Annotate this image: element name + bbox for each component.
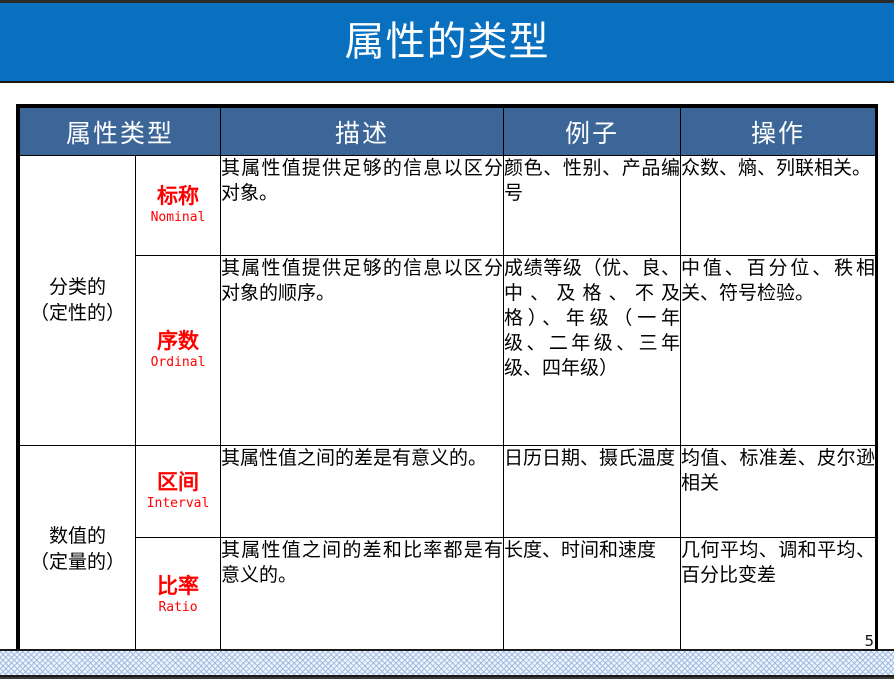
group-label-categorical-line2: （定性的） <box>30 302 125 324</box>
group-cell-numeric: 数值的 （定量的） <box>20 446 136 655</box>
examples-cell-ordinal: 成绩等级（优、良、中、及格、不及格）、年级（一年级、二年级、三年级、四年级） <box>504 256 681 446</box>
type-label-cn-nominal: 标称 <box>136 184 220 208</box>
group-label-categorical-line1: 分类的 <box>49 276 106 298</box>
operations-cell-ordinal: 中值、百分位、秩相关、符号检验。 <box>681 256 876 446</box>
description-cell-interval: 其属性值之间的差是有意义的。 <box>221 446 504 538</box>
operations-cell-nominal: 众数、熵、列联相关。 <box>681 156 876 256</box>
type-cell-ratio: 比率 Ratio <box>136 538 221 655</box>
attribute-types-table: 属性类型 描述 例子 操作 分类的 （定性的） 标称 Nominal 其属性值提… <box>19 107 876 655</box>
group-cell-categorical: 分类的 （定性的） <box>20 156 136 446</box>
column-header-attribute-type: 属性类型 <box>20 108 221 156</box>
slide-number: 5 <box>864 634 874 649</box>
slide-title-banner: 属性的类型 <box>0 3 894 81</box>
type-label-en-ratio: Ratio <box>136 599 220 617</box>
operations-cell-ratio: 几何平均、调和平均、百分比变差 <box>681 538 876 655</box>
type-cell-interval: 区间 Interval <box>136 446 221 538</box>
type-cell-ordinal: 序数 Ordinal <box>136 256 221 446</box>
description-cell-ratio: 其属性值之间的差和比率都是有意义的。 <box>221 538 504 655</box>
table-row: 分类的 （定性的） 标称 Nominal 其属性值提供足够的信息以区分对象。 颜… <box>20 156 876 256</box>
table-row: 数值的 （定量的） 区间 Interval 其属性值之间的差是有意义的。 日历日… <box>20 446 876 538</box>
column-header-operations: 操作 <box>681 108 876 156</box>
attribute-types-table-container: 属性类型 描述 例子 操作 分类的 （定性的） 标称 Nominal 其属性值提… <box>16 104 878 650</box>
footer-hatch-band <box>0 649 894 677</box>
table-header-row: 属性类型 描述 例子 操作 <box>20 108 876 156</box>
operations-cell-interval: 均值、标准差、皮尔逊相关 <box>681 446 876 538</box>
table-row: 序数 Ordinal 其属性值提供足够的信息以区分对象的顺序。 成绩等级（优、良… <box>20 256 876 446</box>
type-label-cn-ordinal: 序数 <box>136 329 220 353</box>
examples-cell-nominal: 颜色、性别、产品编号 <box>504 156 681 256</box>
banner-underline <box>0 81 894 83</box>
examples-cell-ratio: 长度、时间和速度 <box>504 538 681 655</box>
type-label-cn-ratio: 比率 <box>136 574 220 598</box>
type-label-cn-interval: 区间 <box>136 470 220 494</box>
description-cell-nominal: 其属性值提供足够的信息以区分对象。 <box>221 156 504 256</box>
examples-cell-interval: 日历日期、摄氏温度 <box>504 446 681 538</box>
group-label-numeric-line1: 数值的 <box>49 525 106 547</box>
type-cell-nominal: 标称 Nominal <box>136 156 221 256</box>
type-label-en-ordinal: Ordinal <box>136 354 220 372</box>
description-cell-ordinal: 其属性值提供足够的信息以区分对象的顺序。 <box>221 256 504 446</box>
table-row: 比率 Ratio 其属性值之间的差和比率都是有意义的。 长度、时间和速度 几何平… <box>20 538 876 655</box>
column-header-examples: 例子 <box>504 108 681 156</box>
page-title: 属性的类型 <box>345 22 550 62</box>
type-label-en-nominal: Nominal <box>136 209 220 227</box>
type-label-en-interval: Interval <box>136 495 220 513</box>
group-label-numeric-line2: （定量的） <box>30 551 125 573</box>
column-header-description: 描述 <box>221 108 504 156</box>
